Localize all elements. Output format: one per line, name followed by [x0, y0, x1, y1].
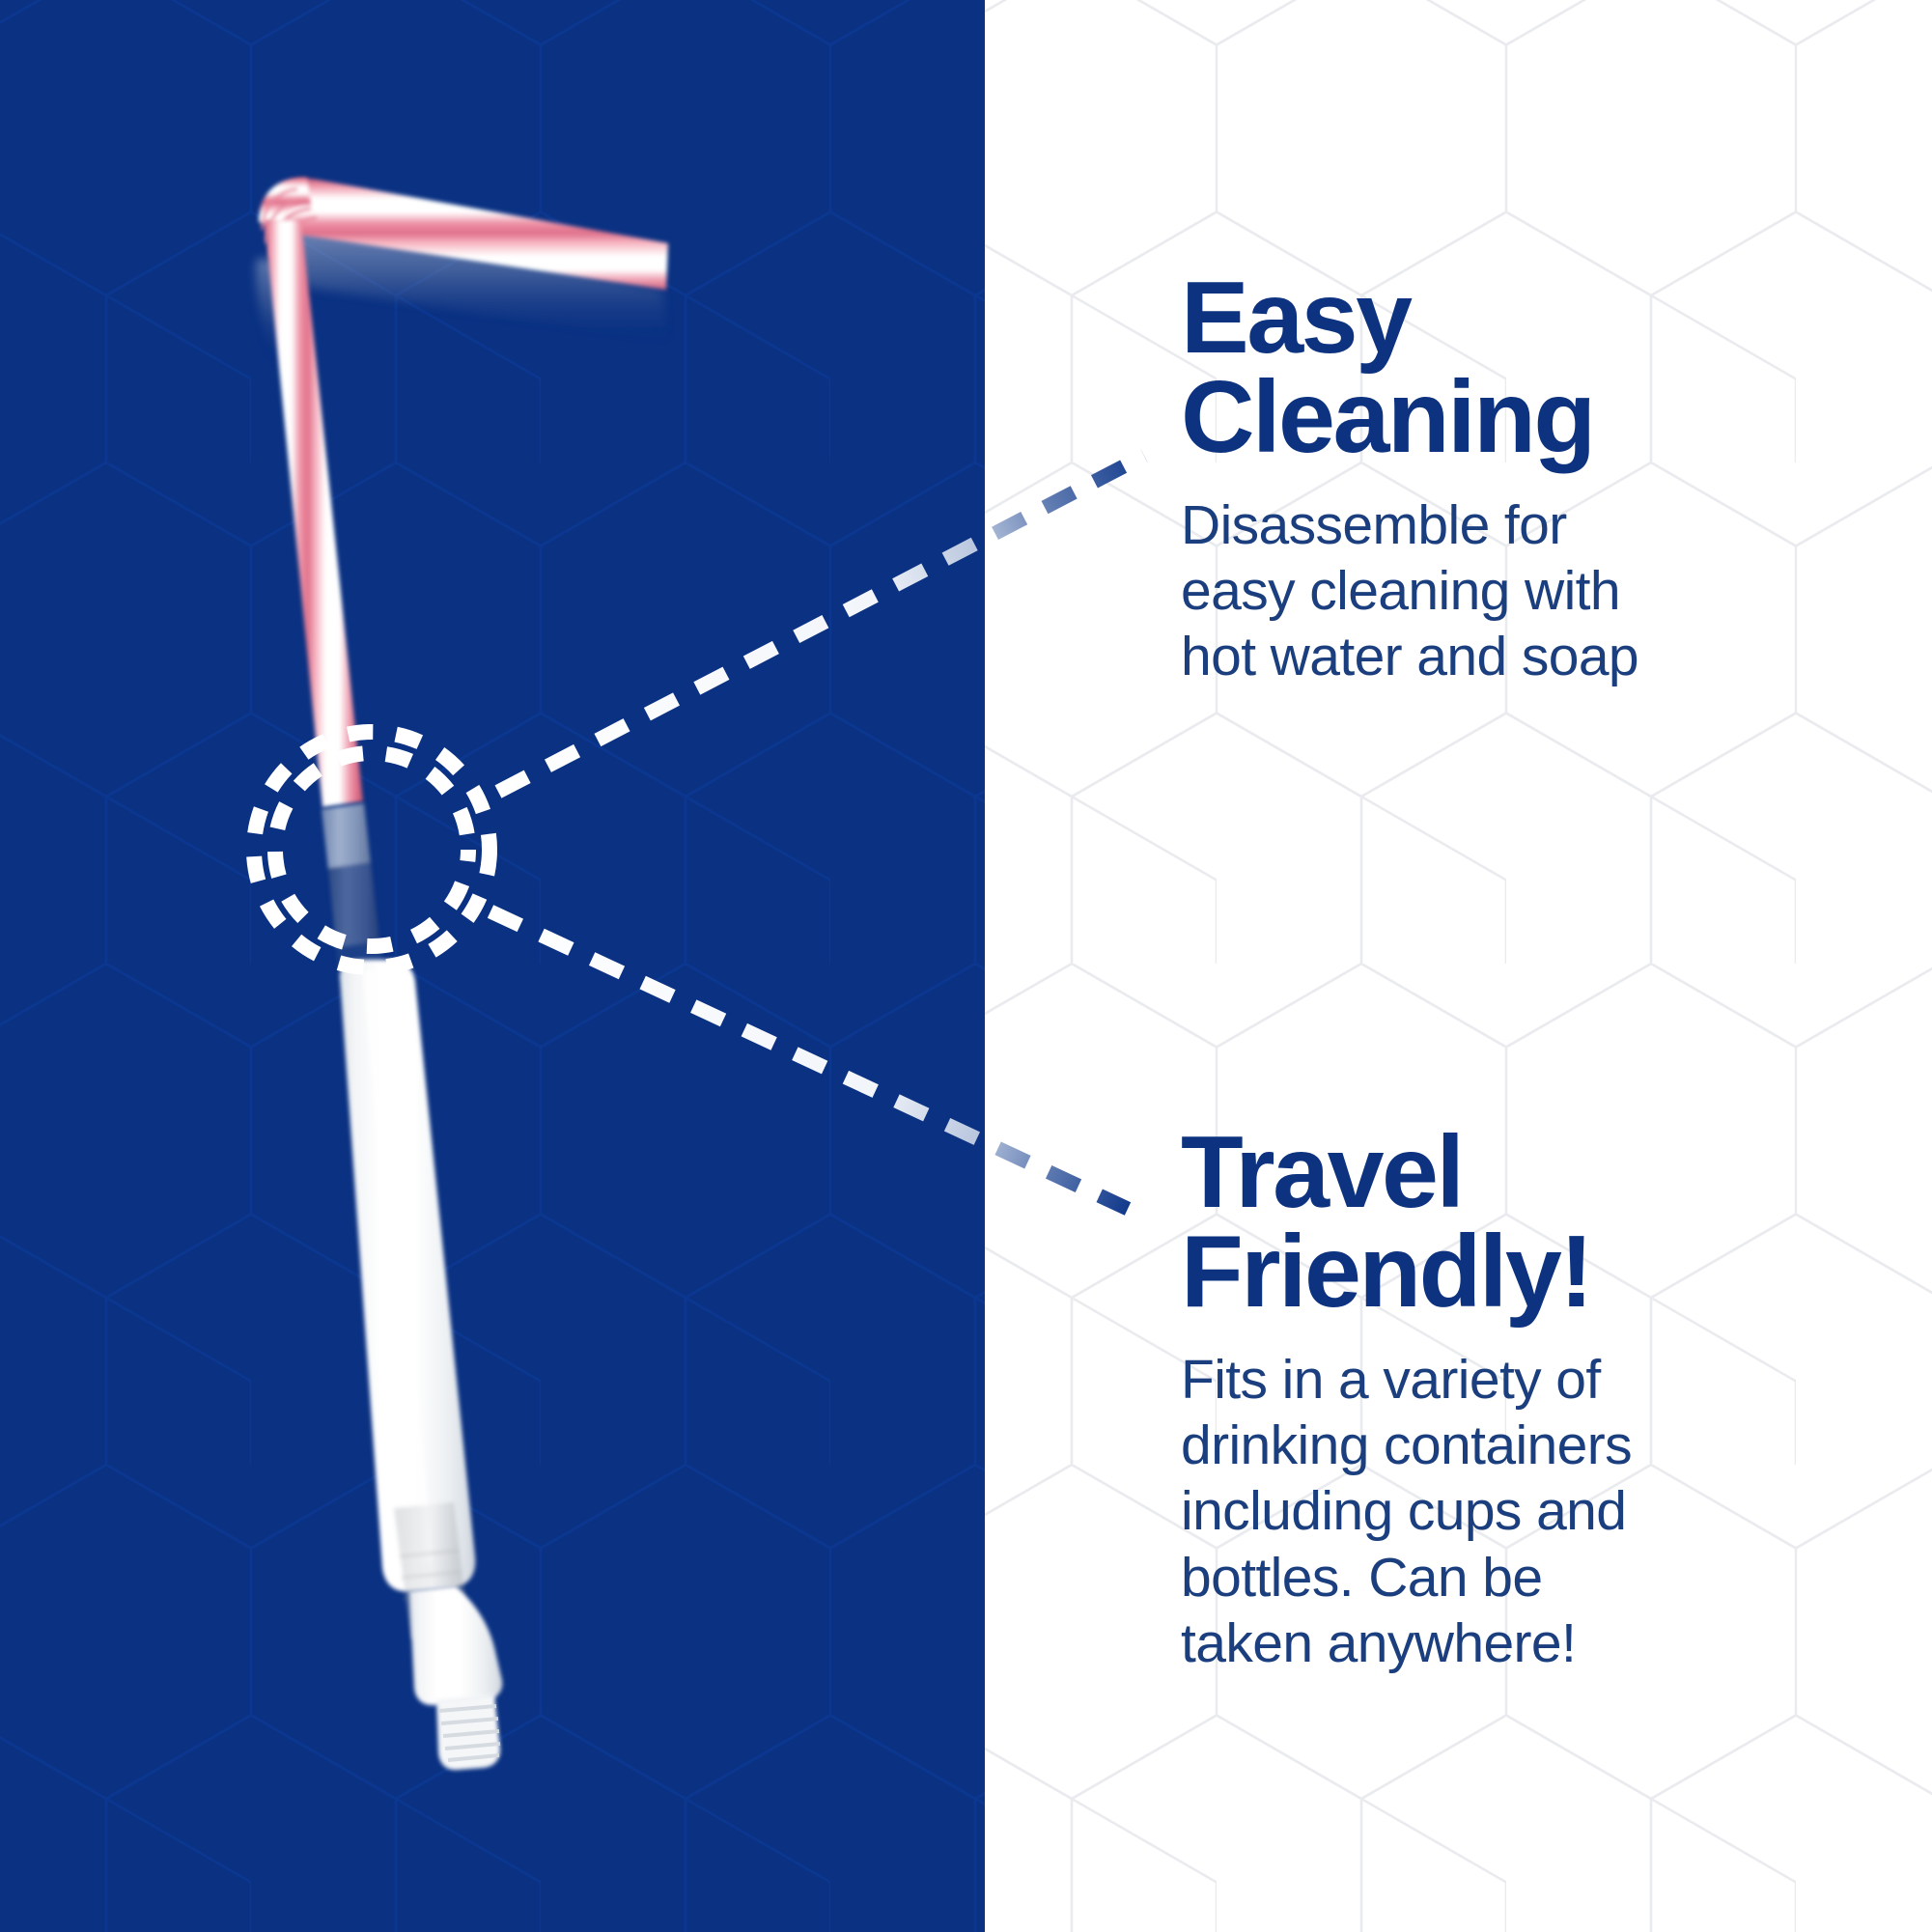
infographic-canvas: Easy Cleaning Disassemble for easy clean… [0, 0, 1932, 1932]
feature-heading-travel-friendly: Travel Friendly! [1181, 1123, 1779, 1322]
left-product-panel [0, 0, 985, 1932]
feature-body-travel-friendly: Fits in a variety of drinking containers… [1181, 1347, 1779, 1677]
hex-pattern-blue [0, 0, 985, 1932]
feature-block-travel-friendly: Travel Friendly! Fits in a variety of dr… [1181, 1123, 1779, 1677]
feature-heading-easy-cleaning: Easy Cleaning [1181, 268, 1779, 467]
feature-body-easy-cleaning: Disassemble for easy cleaning with hot w… [1181, 492, 1779, 690]
feature-block-easy-cleaning: Easy Cleaning Disassemble for easy clean… [1181, 268, 1779, 690]
